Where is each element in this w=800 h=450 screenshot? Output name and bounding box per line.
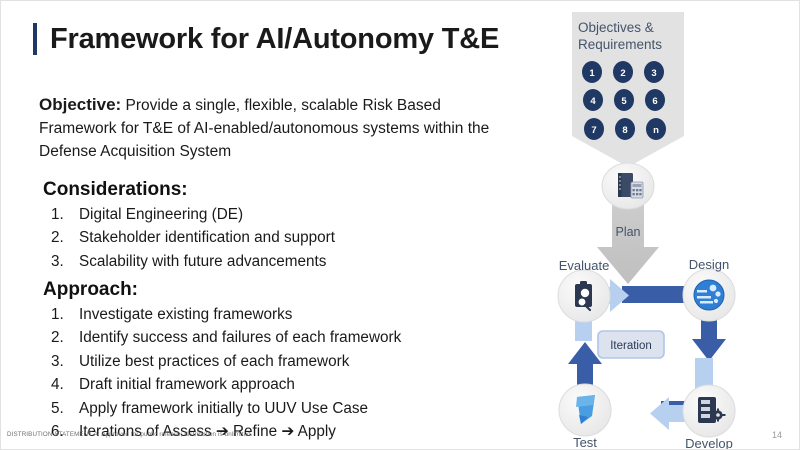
list-item: Apply framework initially to UUV Use Cas… <box>43 397 513 420</box>
objective-paragraph: Objective: Provide a single, flexible, s… <box>39 93 509 164</box>
cycle-label-evaluate: Evaluate <box>559 258 610 273</box>
considerations-heading: Considerations: <box>43 179 513 201</box>
title-text: Framework for AI/Autonomy T&E <box>50 23 499 55</box>
network-chip-icon <box>694 280 724 310</box>
badge-5: 5 <box>621 96 627 107</box>
badge-1: 1 <box>589 68 595 79</box>
list-item: Utilize best practices of each framework <box>43 350 513 373</box>
requirement-badges: 1 2 3 4 5 6 7 8 n <box>582 61 666 140</box>
slide-canvas: Framework for AI/Autonomy T&E Objective:… <box>0 0 800 450</box>
cycle-label-develop: Develop <box>685 436 733 450</box>
distribution-statement: DISTRIBUTION STATEMENT A: Approved for p… <box>7 431 253 438</box>
badge-7: 7 <box>591 125 596 136</box>
list-item: Scalability with future advancements <box>43 250 513 273</box>
iteration-center: Iteration <box>598 331 664 358</box>
cycle-node-design <box>683 269 735 321</box>
badge-n: n <box>653 125 659 136</box>
cycle-node-evaluate <box>558 270 610 322</box>
considerations-section: Considerations: Digital Engineering (DE)… <box>43 179 513 273</box>
cycle-label-design: Design <box>689 257 729 272</box>
badge-8: 8 <box>622 125 627 136</box>
chevron-heading-line2: Requirements <box>578 37 662 52</box>
plan-node <box>602 163 654 209</box>
objectives-chevron <box>572 12 684 167</box>
list-item: Identify success and failures of each fr… <box>43 326 513 349</box>
plan-label: Plan <box>615 225 640 239</box>
approach-section: Approach: Investigate existing framework… <box>43 279 513 443</box>
badge-3: 3 <box>651 68 656 79</box>
chevron-heading-line1: Objectives & <box>578 20 654 35</box>
considerations-list: Digital Engineering (DE) Stakeholder ide… <box>43 203 513 273</box>
cycle-label-test: Test <box>573 435 597 450</box>
list-item: Digital Engineering (DE) <box>43 203 513 226</box>
clipboard-magnifier-icon <box>575 281 592 310</box>
list-item: Draft initial framework approach <box>43 373 513 396</box>
iteration-label: Iteration <box>610 340 652 352</box>
cycle-node-test <box>559 384 611 436</box>
objective-label: Objective: <box>39 95 121 114</box>
list-item: Investigate existing frameworks <box>43 303 513 326</box>
approach-list: Investigate existing frameworks Identify… <box>43 303 513 443</box>
approach-heading: Approach: <box>43 279 513 301</box>
cycle-node-develop <box>683 385 735 437</box>
title-accent-bar <box>33 23 37 55</box>
badge-2: 2 <box>620 68 625 79</box>
badge-4: 4 <box>590 96 596 107</box>
list-item: Stakeholder identification and support <box>43 226 513 249</box>
page-title: Framework for AI/Autonomy T&E <box>33 23 499 55</box>
framework-process-diagram: Objectives & Requirements 1 2 3 4 5 6 7 … <box>521 1 800 450</box>
badge-6: 6 <box>652 96 657 107</box>
